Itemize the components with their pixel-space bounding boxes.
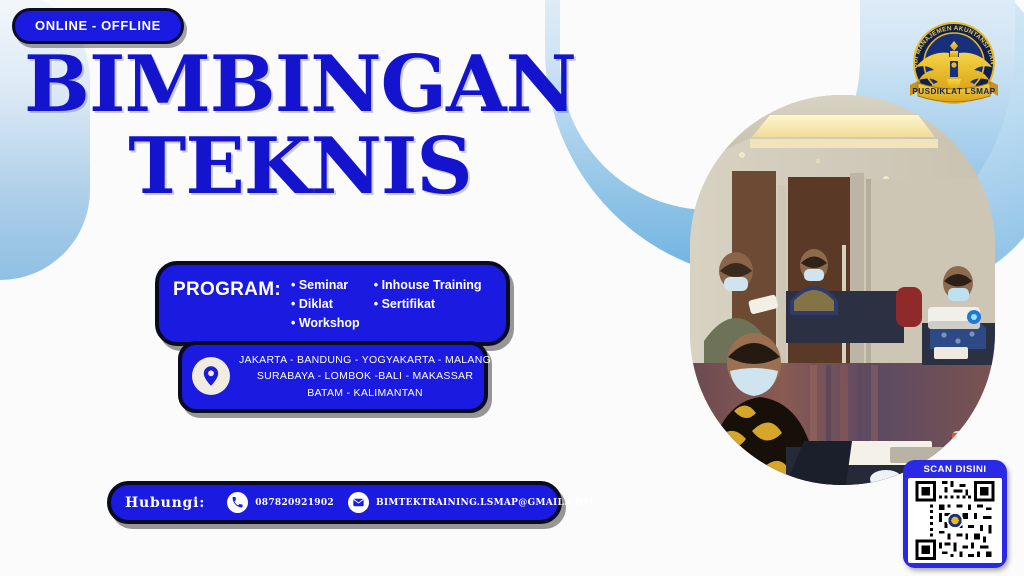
page-title: BIMBINGAN TEKNIS [0,48,600,204]
email-address: BIMTEKTRAINING.LSMAP@GMAIL.COM [376,498,594,508]
contact-label: Hubungi: [125,495,205,511]
envelope-icon [348,492,369,513]
page-title-line-2: TEKNIS [0,130,600,204]
organization-logo: LEMBAGA STUDI MANAJEMEN AKUNTANSI DAN PE… [900,13,1008,113]
list-item: Sertifikat [374,296,482,313]
program-column-1: Seminar Diklat Workshop [291,277,360,332]
list-item: Workshop [291,315,360,332]
contact-panel: Hubungi: 087820921902 BIMTEKTRAINING.LSM… [107,481,562,524]
training-photo [690,95,995,485]
qr-card[interactable]: SCAN DISINI [903,460,1007,568]
contact-phone[interactable]: 087820921902 [227,492,334,513]
program-columns: Seminar Diklat Workshop Inhouse Training… [291,273,482,332]
phone-number: 087820921902 [255,498,334,508]
list-item: Inhouse Training [374,277,482,294]
page-title-line-1: BIMBINGAN [0,48,600,122]
phone-icon [227,492,248,513]
location-panel: JAKARTA - BANDUNG - YOGYAKARTA - MALANG … [178,341,488,413]
qr-code-image[interactable] [908,478,1002,563]
program-panel: PROGRAM: Seminar Diklat Workshop Inhouse… [155,261,510,346]
list-item: Diklat [291,296,360,313]
program-label: PROGRAM: [173,273,281,301]
list-item: Seminar [291,277,360,294]
contact-email[interactable]: BIMTEKTRAINING.LSMAP@GMAIL.COM [348,492,594,513]
location-line: JAKARTA - BANDUNG - YOGYAKARTA - MALANG [239,352,491,368]
qr-title: SCAN DISINI [923,464,986,475]
map-pin-icon [192,357,230,395]
program-column-2: Inhouse Training Sertifikat [374,277,482,332]
location-line: BATAM - KALIMANTAN [239,385,491,401]
location-line: SURABAYA - LOMBOK -BALI - MAKASSAR [239,368,491,384]
location-text: JAKARTA - BANDUNG - YOGYAKARTA - MALANG … [239,352,491,401]
logo-ribbon-text: PUSDIKLAT LSMAP [912,87,995,96]
